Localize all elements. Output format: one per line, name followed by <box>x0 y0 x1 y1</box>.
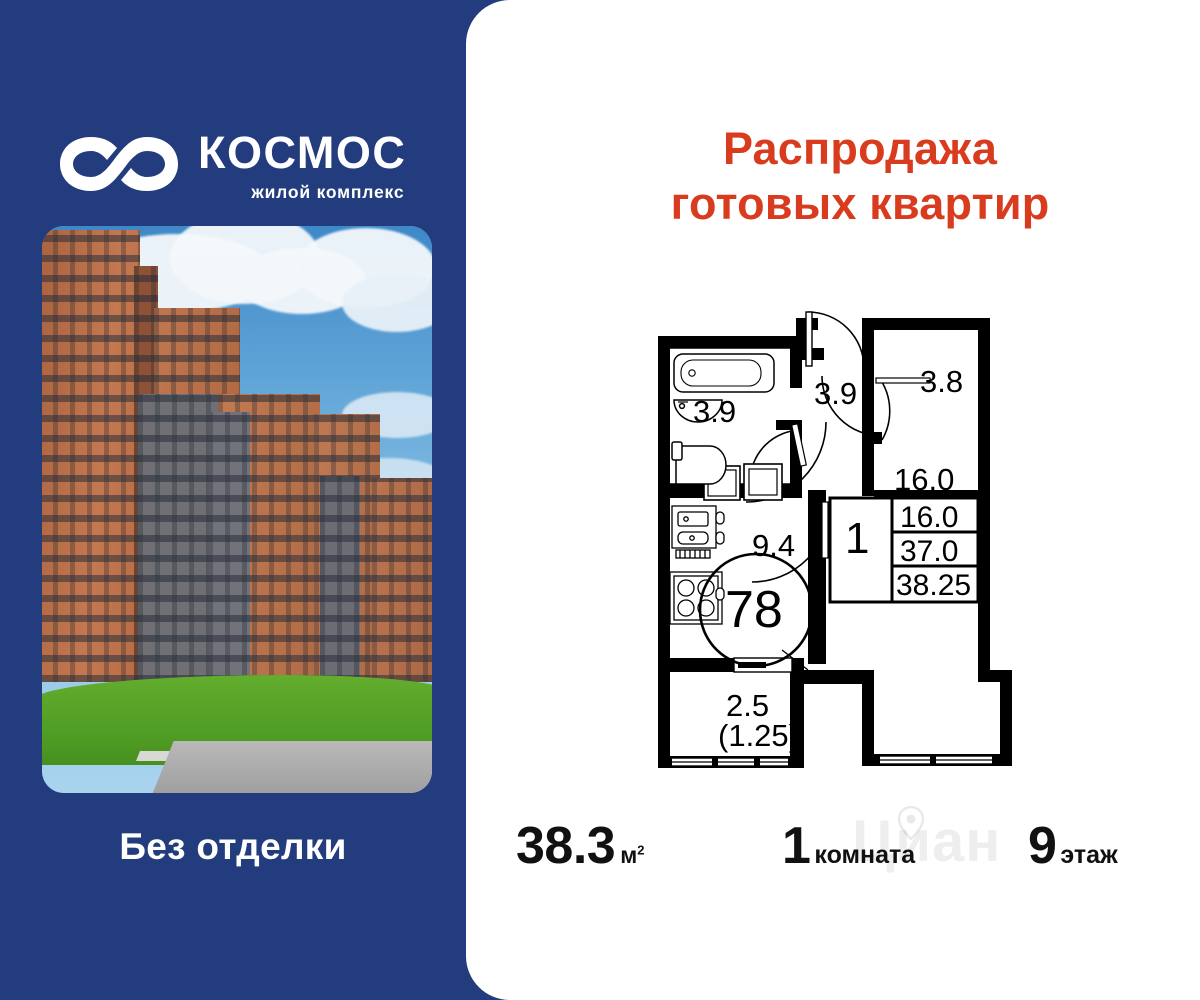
poster-root: КОСМОС жилой комплекс Без отделки Распро… <box>0 0 1200 1000</box>
summary-area-value: 38.3 <box>516 816 615 876</box>
table-living-area: 16.0 <box>900 501 958 535</box>
headline-line-2: готовых квартир <box>560 177 1160 232</box>
table-total-area: 37.0 <box>900 535 958 569</box>
apartment-number: 78 <box>725 580 783 640</box>
summary-rooms-value: 1 <box>782 816 810 876</box>
building-photo <box>42 226 432 793</box>
room-area-bathroom: 3.9 <box>693 394 736 430</box>
building-block <box>372 478 432 682</box>
table-rooms-count: 1 <box>845 514 869 564</box>
brand-logo: КОСМОС жилой комплекс <box>52 118 452 210</box>
summary-rooms-unit: комната <box>814 841 915 870</box>
headline-line-1: Распродажа <box>560 122 1160 177</box>
room-area-living: 16.0 <box>894 462 954 498</box>
table-total-with-balcony: 38.25 <box>896 569 971 603</box>
summary-floor: 9 этаж <box>1028 816 1118 876</box>
room-area-hall: 3.9 <box>814 376 857 412</box>
room-area-storage: 3.8 <box>920 364 963 400</box>
building-block <box>42 230 140 682</box>
summary-floor-value: 9 <box>1028 816 1056 876</box>
summary-row: 38.3 м2 1 комната 9 этаж <box>480 816 1180 886</box>
summary-area: 38.3 м2 <box>516 816 644 876</box>
summary-rooms: 1 комната <box>782 816 915 876</box>
building-block <box>320 476 360 682</box>
room-area-balcony-coef: (1.25) <box>718 718 799 754</box>
brand-text: КОСМОС жилой комплекс <box>198 126 406 203</box>
road <box>150 741 432 793</box>
building-block <box>208 412 250 682</box>
infinity-icon <box>52 127 182 201</box>
summary-area-unit: м2 <box>620 842 644 869</box>
page-title: Распродажа готовых квартир <box>560 122 1160 232</box>
floor-plan: 3.9 3.9 3.8 16.0 9.4 78 2.5 (1.25) 1 16.… <box>630 250 1030 800</box>
brand-tagline: жилой комплекс <box>198 182 406 203</box>
summary-floor-unit: этаж <box>1060 841 1117 870</box>
room-area-kitchen: 9.4 <box>752 528 795 564</box>
finish-label: Без отделки <box>0 826 466 868</box>
brand-name: КОСМОС <box>198 130 406 175</box>
